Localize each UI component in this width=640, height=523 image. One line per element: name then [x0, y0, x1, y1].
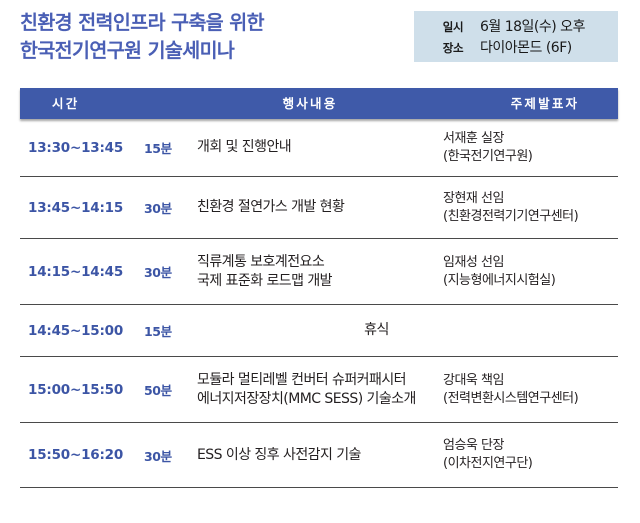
info-row-date: 일시 6월 18일(수) 오후 [414, 16, 618, 37]
place-label: 장소 [426, 40, 480, 56]
date-label: 일시 [426, 19, 480, 35]
cell-event: 모듈라 멀티레벨 컨버터 슈퍼커패시터 에너지저장장치(MMC SESS) 기술… [175, 371, 443, 409]
cell-time: 13:30~13:45 [20, 140, 144, 156]
place-value: 다이아몬드 (6F) [480, 37, 572, 57]
column-header-speaker: 주제발표자 [20, 88, 618, 119]
table-body: 13:30~13:4515분개회 및 진행안내서재훈 실장 (한국전기연구원)1… [20, 119, 618, 488]
cell-duration: 15분 [144, 138, 175, 157]
cell-time: 14:15~14:45 [20, 264, 144, 280]
cell-speaker: 엄승욱 단장 (이차전지연구단) [443, 437, 618, 472]
cell-duration: 15분 [144, 321, 175, 340]
table-header-row: 시간 행사내용 주제발표자 [20, 88, 618, 119]
cell-time: 13:45~14:15 [20, 200, 144, 216]
cell-event: 개회 및 진행안내 [175, 138, 443, 157]
schedule-table: 시간 행사내용 주제발표자 13:30~13:4515분개회 및 진행안내서재훈… [20, 88, 618, 488]
info-row-place: 장소 다이아몬드 (6F) [414, 37, 618, 58]
date-value: 6월 18일(수) 오후 [480, 16, 585, 36]
table-row: 15:00~15:5050분모듈라 멀티레벨 컨버터 슈퍼커패시터 에너지저장장… [20, 357, 618, 423]
cell-speaker: 서재훈 실장 (한국전기연구원) [443, 130, 618, 165]
cell-time: 15:50~16:20 [20, 447, 144, 463]
cell-time: 15:00~15:50 [20, 382, 144, 398]
cell-event: 휴식 [175, 321, 618, 340]
cell-speaker: 장현재 선임 (친환경전력기기연구센터) [443, 190, 618, 225]
cell-duration: 30분 [144, 262, 175, 281]
cell-speaker: 강대욱 책임 (전력변환시스템연구센터) [443, 372, 618, 407]
cell-event: 친환경 절연가스 개발 현황 [175, 198, 443, 217]
table-row: 14:15~14:4530분직류계통 보호계전요소 국제 표준화 로드맵 개발임… [20, 239, 618, 305]
cell-duration: 30분 [144, 446, 175, 465]
table-row: 13:30~13:4515분개회 및 진행안내서재훈 실장 (한국전기연구원) [20, 119, 618, 177]
cell-duration: 30분 [144, 198, 175, 217]
seminar-header: 친환경 전력인프라 구축을 위한 한국전기연구원 기술세미나 일시 6월 18일… [0, 0, 640, 78]
table-row: 15:50~16:2030분ESS 이상 징후 사전감지 기술엄승욱 단장 (이… [20, 423, 618, 488]
event-info-box: 일시 6월 18일(수) 오후 장소 다이아몬드 (6F) [414, 11, 618, 62]
cell-event: ESS 이상 징후 사전감지 기술 [175, 446, 443, 465]
cell-time: 14:45~15:00 [20, 323, 144, 339]
table-row: 14:45~15:0015분휴식 [20, 305, 618, 357]
page-title: 친환경 전력인프라 구축을 위한 한국전기연구원 기술세미나 [20, 9, 264, 64]
table-row: 13:45~14:1530분친환경 절연가스 개발 현황장현재 선임 (친환경전… [20, 177, 618, 239]
cell-speaker: 임재성 선임 (지능형에너지시험실) [443, 254, 618, 289]
cell-duration: 50분 [144, 380, 175, 399]
cell-event: 직류계통 보호계전요소 국제 표준화 로드맵 개발 [175, 253, 443, 291]
